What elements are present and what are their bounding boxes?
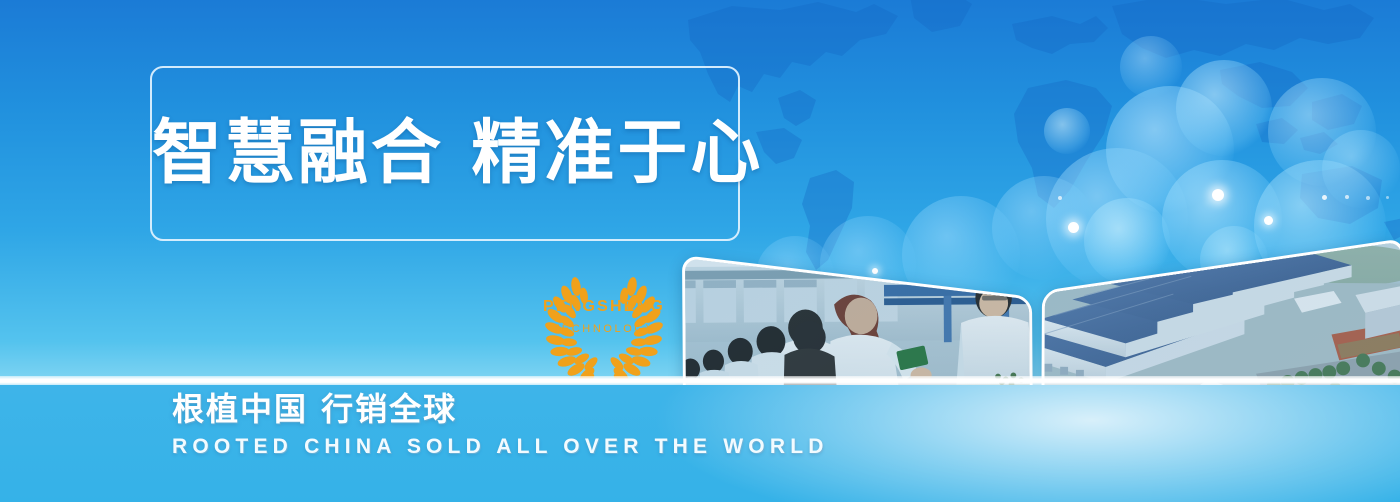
factory-campus-aerial-photo: [1041, 238, 1400, 499]
promo-banner: 智慧融合 精准于心: [0, 0, 1400, 502]
page-title: 智慧融合 精准于心: [152, 117, 738, 187]
tagline-english: ROOTED CHINA SOLD ALL OVER THE WORLD: [172, 436, 829, 457]
headline-frame: 智慧融合 精准于心: [150, 66, 740, 241]
tagline-chinese: 根植中国 行销全球: [172, 392, 829, 428]
section-divider: [0, 376, 1400, 385]
tagline: 根植中国 行销全球 ROOTED CHINA SOLD ALL OVER THE…: [172, 392, 829, 457]
